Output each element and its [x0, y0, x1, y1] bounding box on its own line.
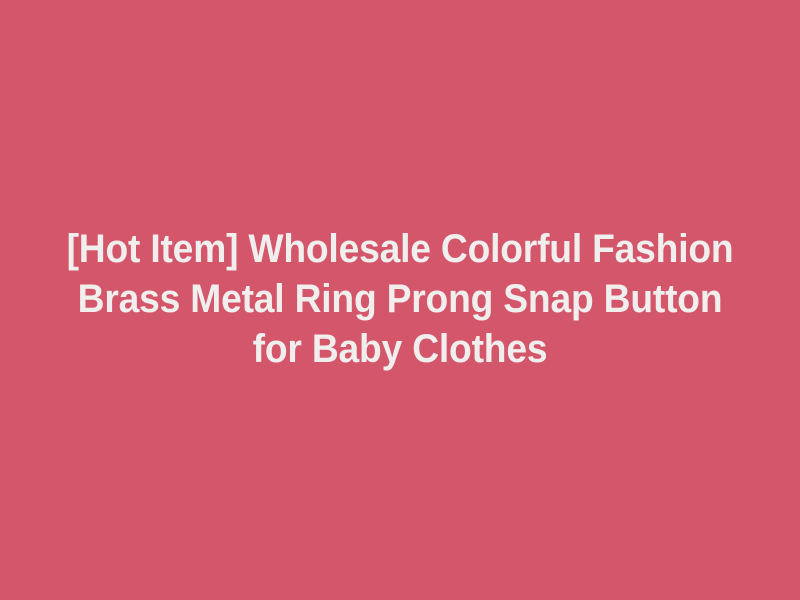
product-title-line-1: [Hot Item] Wholesale Colorful Fashion — [65, 224, 735, 274]
product-title: [Hot Item] Wholesale Colorful Fashion Br… — [40, 224, 760, 374]
product-title-line-2: Brass Metal Ring Prong Snap Button — [65, 274, 735, 324]
product-title-line-3: for Baby Clothes — [65, 324, 735, 374]
product-placeholder-card: [Hot Item] Wholesale Colorful Fashion Br… — [0, 0, 800, 600]
